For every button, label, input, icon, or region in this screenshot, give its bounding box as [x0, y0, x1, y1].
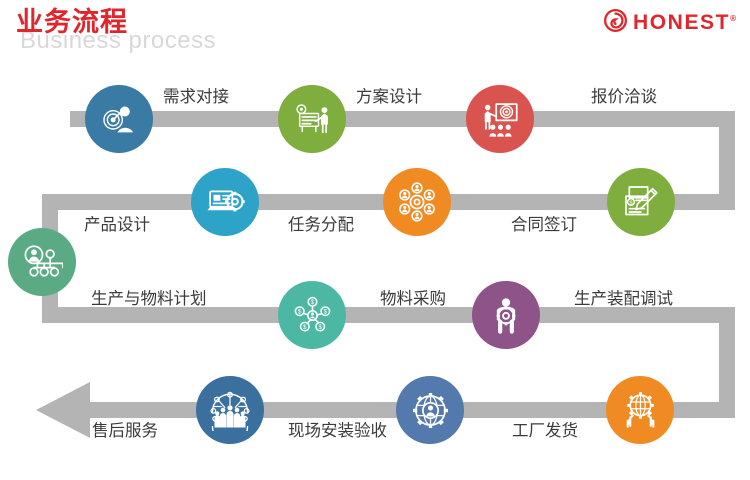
- page-title: 业务流程: [16, 6, 128, 38]
- process-step-node-1[interactable]: [85, 85, 153, 153]
- process-step-label-9: 生产装配调试: [574, 289, 673, 309]
- process-step-label-10: 售后服务: [92, 421, 158, 441]
- target-person-icon: [99, 99, 139, 139]
- process-step-node-5[interactable]: [383, 168, 451, 236]
- process-step-label-8: 物料采购: [380, 289, 446, 309]
- process-step-node-9[interactable]: [472, 281, 540, 349]
- process-step-label-3: 报价洽谈: [591, 87, 657, 107]
- process-step-label-5: 任务分配: [288, 215, 354, 235]
- laptop-gear-icon: [205, 182, 246, 223]
- process-step-label-4: 产品设计: [84, 215, 150, 235]
- process-step-node-7[interactable]: [8, 228, 76, 296]
- process-step-node-2[interactable]: [278, 85, 346, 153]
- process-step-node-10[interactable]: [196, 376, 264, 444]
- process-step-node-8[interactable]: $$ $$$: [278, 281, 346, 349]
- business-process-slide: Business process 业务流程 HONEST® 需求对接: [0, 0, 750, 480]
- money-network-icon: $$ $$$: [292, 295, 333, 336]
- process-step-label-6: 合同签订: [511, 215, 577, 235]
- process-step-label-1: 需求对接: [163, 87, 229, 107]
- gear-globe-person-icon: [410, 390, 451, 431]
- team-globe-icon: [209, 389, 251, 431]
- flow-arrow-head: [36, 382, 90, 438]
- process-step-node-4[interactable]: [191, 168, 259, 236]
- process-step-label-12: 工厂发货: [512, 421, 578, 441]
- globe-hands-icon: [620, 390, 661, 431]
- process-step-label-2: 方案设计: [356, 87, 422, 107]
- people-gear-network-icon: [396, 181, 438, 223]
- org-chart-person-icon: [22, 242, 63, 283]
- process-step-node-3[interactable]: [466, 85, 534, 153]
- whiteboard-presenter-icon: [292, 99, 333, 140]
- process-step-label-11: 现场安装验收: [288, 421, 387, 441]
- presentation-audience-icon: [480, 99, 521, 140]
- process-step-label-7: 生产与物料计划: [91, 289, 207, 309]
- worker-gear-icon: [486, 295, 526, 335]
- process-step-node-12[interactable]: [606, 376, 674, 444]
- process-step-node-11[interactable]: [396, 376, 464, 444]
- contract-pen-icon: $: [621, 182, 661, 222]
- process-step-node-6[interactable]: $: [607, 168, 675, 236]
